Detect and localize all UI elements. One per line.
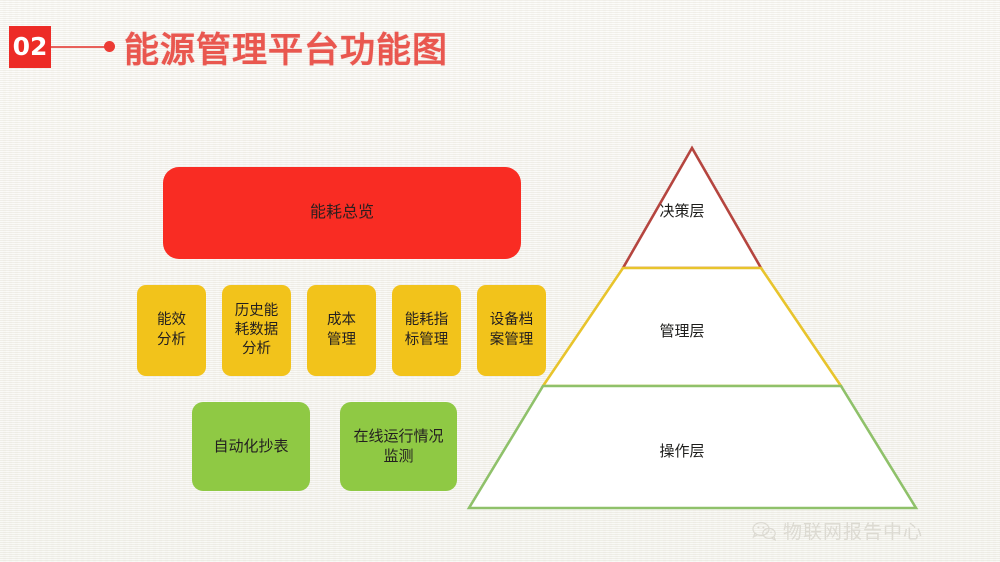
function-box-automatic-meter-reading[interactable]: 自动化抄表 [192, 402, 310, 491]
wechat-icon [752, 521, 776, 541]
function-box-label-wrap: 在线运行情况 监测 [353, 427, 443, 467]
function-box-label-wrap: 历史能 耗数据 分析 [235, 302, 279, 359]
function-box-label-line2: 监测 [383, 448, 413, 465]
pyramid-label-management: 管理层 [637, 320, 727, 341]
function-box-label-line2: 分析 [157, 332, 186, 348]
function-box-overview-label: 能耗总览 [310, 202, 374, 223]
function-box-label-line1: 成本 [327, 312, 356, 328]
function-box-label-line1: 历史能 [235, 303, 279, 319]
function-box-label-wrap: 能效 分析 [157, 311, 186, 349]
function-box-label-wrap: 自动化抄表 [213, 437, 288, 457]
function-box-online-operation-monitoring[interactable]: 在线运行情况 监测 [340, 402, 457, 491]
function-box-energy-efficiency-analysis[interactable]: 能效 分析 [137, 285, 206, 376]
function-box-label-line2: 耗数据 [235, 322, 279, 338]
function-box-label-line1: 自动化抄表 [213, 438, 288, 455]
page-title: 能源管理平台功能图 [124, 22, 448, 73]
pyramid-diagram: 决策层 管理层 操作层 [455, 135, 935, 525]
slide-canvas: 02 能源管理平台功能图 能耗总览 能效 分析 历史能 耗数据 分析 成本 管理… [0, 0, 1000, 562]
function-box-cost-management[interactable]: 成本 管理 [307, 285, 376, 376]
function-box-label-line2: 标管理 [405, 332, 449, 348]
function-box-label-line2: 管理 [327, 332, 356, 348]
function-box-label-line1: 能效 [157, 312, 186, 328]
function-box-label-line1: 能耗指 [405, 312, 449, 328]
header-connector-line [51, 46, 108, 48]
header-connector-dot [104, 41, 115, 52]
watermark: 物联网报告中心 [752, 517, 923, 544]
pyramid-label-decision: 决策层 [637, 200, 727, 221]
function-box-label-wrap: 能耗指 标管理 [405, 311, 449, 349]
function-box-label-line3: 分析 [242, 341, 271, 357]
function-box-energy-index-management[interactable]: 能耗指 标管理 [392, 285, 461, 376]
watermark-text: 物联网报告中心 [783, 517, 923, 544]
section-number-badge: 02 [9, 26, 51, 68]
function-box-historical-energy-data-analysis[interactable]: 历史能 耗数据 分析 [222, 285, 291, 376]
pyramid-label-operation: 操作层 [637, 440, 727, 461]
function-box-label-line1: 在线运行情况 [353, 428, 443, 445]
function-box-label-wrap: 成本 管理 [327, 311, 356, 349]
